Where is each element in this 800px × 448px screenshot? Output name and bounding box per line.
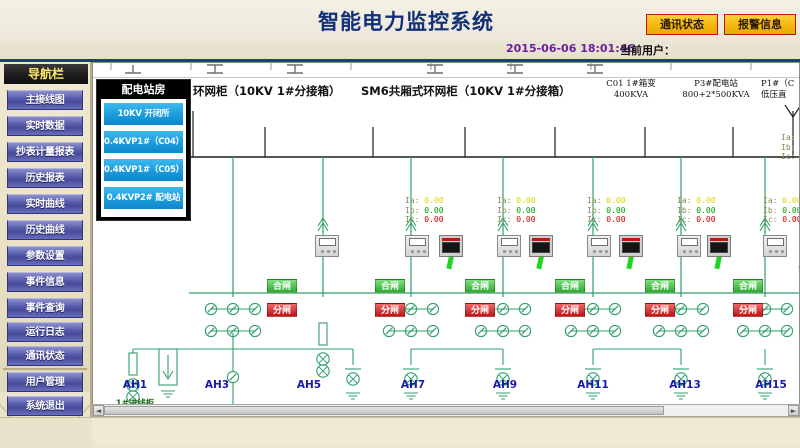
close-breaker-button-5[interactable]: 合闸 xyxy=(645,279,675,293)
meas-ic-value-4: 0.00 xyxy=(696,215,715,224)
sidebar-item-meter-report[interactable]: 抄表计量报表 xyxy=(7,142,83,162)
popup-title: 配电站房 xyxy=(97,81,190,98)
scroll-left-arrow-icon[interactable]: ◄ xyxy=(93,405,104,416)
meas-ib-value-2: 0.00 xyxy=(516,206,535,215)
sidebar-item-realtime-curve[interactable]: 实时曲线 xyxy=(7,194,83,214)
popup-button-04kv-p1-c05[interactable]: 0.4KVP1#（C05） xyxy=(104,159,183,181)
meas-ia-label-2: Ia: xyxy=(497,196,511,205)
meas-ic-label-3: Ic: xyxy=(587,215,601,224)
meas-ia-value-5: 0.00 xyxy=(782,196,800,205)
meas-ic-label-1: Ic: xyxy=(405,215,419,224)
close-breaker-button-6[interactable]: 合闸 xyxy=(733,279,763,293)
sidebar-item-realtime-data[interactable]: 实时数据 xyxy=(7,116,83,136)
sidebar-item-system-exit[interactable]: 系统退出 xyxy=(7,396,83,416)
protection-relay-icon-3[interactable] xyxy=(497,235,521,257)
measurement-group-3: Ia: 0.00 Ib: 0.00 Ic: 0.00 xyxy=(587,196,626,225)
scroll-right-arrow-icon[interactable]: ► xyxy=(788,405,799,416)
meas-ic-label-5: Ic: xyxy=(763,215,777,224)
cabinet-id-ah5: AH5 xyxy=(281,379,337,391)
cabinet-id-ah7: AH7 xyxy=(385,379,441,391)
meas-ic-label-6: Ic: xyxy=(781,152,795,161)
app-header: 智能电力监控系统 通讯状态 报警信息 2015-06-06 18:01:46 当… xyxy=(0,0,800,62)
sidebar-item-param-settings[interactable]: 参数设置 xyxy=(7,246,83,266)
meas-ib-label-1: Ib: xyxy=(405,206,419,215)
meas-ia-label-4: Ia: xyxy=(677,196,691,205)
power-meter-icon-3[interactable] xyxy=(619,235,643,257)
meas-ic-value-5: 0.00 xyxy=(782,215,800,224)
comm-status-button[interactable]: 通讯状态 xyxy=(646,14,718,35)
meas-ia-label-6: Ia: xyxy=(781,133,795,142)
meas-ib-value-4: 0.00 xyxy=(696,206,715,215)
power-meter-icon-2[interactable] xyxy=(529,235,553,257)
protection-relay-icon-5[interactable] xyxy=(677,235,701,257)
meas-ib-value-5: 0.00 xyxy=(782,206,800,215)
sidebar-item-run-log[interactable]: 运行日志 xyxy=(7,322,83,342)
meas-ib-value-1: 0.00 xyxy=(424,206,443,215)
sidebar-title: 导航栏 xyxy=(4,64,88,84)
system-timestamp: 2015-06-06 18:01:46 xyxy=(506,42,635,55)
protection-relay-icon-1[interactable] xyxy=(315,235,339,257)
meas-ib-label-2: Ib: xyxy=(497,206,511,215)
popup-button-04kv-p2-station[interactable]: 0.4KVP2# 配电站 xyxy=(104,187,183,209)
meas-ib-label-6: Ib: xyxy=(781,143,795,152)
sidebar-item-event-query[interactable]: 事件查询 xyxy=(7,298,83,318)
meas-ic-value-2: 0.00 xyxy=(516,215,535,224)
cabinet-id-ah11: AH11 xyxy=(565,379,621,391)
sidebar-item-main-diagram[interactable]: 主接线图 xyxy=(7,90,83,110)
meas-ic-value-1: 0.00 xyxy=(424,215,443,224)
sidebar-item-event-info[interactable]: 事件信息 xyxy=(7,272,83,292)
open-breaker-button-3[interactable]: 分闸 xyxy=(465,303,495,317)
popup-body: 10KV 开闭所 0.4KVP1#（C04） 0.4KVP1#（C05） 0.4… xyxy=(101,99,186,217)
meas-ic-label-2: Ic: xyxy=(497,215,511,224)
meas-ia-label-3: Ia: xyxy=(587,196,601,205)
cabinet-id-ah1: AH1 xyxy=(107,379,163,391)
close-breaker-button-1[interactable]: 合闸 xyxy=(267,279,297,293)
open-breaker-button-2[interactable]: 分闸 xyxy=(375,303,405,317)
sidebar: 导航栏 主接线图 实时数据 抄表计量报表 历史报表 实时曲线 历史曲线 参数设置… xyxy=(0,62,92,447)
power-meter-icon-1[interactable] xyxy=(439,235,463,257)
meas-ib-label-4: Ib: xyxy=(677,206,691,215)
scrollbar-thumb[interactable] xyxy=(104,406,664,415)
meas-ia-label-1: Ia: xyxy=(405,196,419,205)
sidebar-item-history-report[interactable]: 历史报表 xyxy=(7,168,83,188)
page-title: 智能电力监控系统 xyxy=(318,6,494,36)
diagram-ruler xyxy=(93,63,800,78)
single-line-diagram-panel: 配电站房 10KV 开闭所 0.4KVP1#（C04） 0.4KVP1#（C05… xyxy=(92,62,800,417)
sidebar-item-comm-status[interactable]: 通讯状态 xyxy=(7,346,83,366)
cabinet-id-ah13: AH13 xyxy=(657,379,713,391)
open-breaker-button-1[interactable]: 分闸 xyxy=(267,303,297,317)
meas-ib-value-3: 0.00 xyxy=(606,206,625,215)
substation-popup: 配电站房 10KV 开闭所 0.4KVP1#（C04） 0.4KVP1#（C05… xyxy=(96,79,191,221)
meas-ic-value-3: 0.00 xyxy=(606,215,625,224)
close-breaker-button-3[interactable]: 合闸 xyxy=(465,279,495,293)
sidebar-item-user-manage[interactable]: 用户管理 xyxy=(7,372,83,392)
close-breaker-button-4[interactable]: 合闸 xyxy=(555,279,585,293)
cabinet-id-ah9: AH9 xyxy=(477,379,533,391)
protection-relay-icon-6[interactable] xyxy=(763,235,787,257)
meas-ia-label-5: Ia: xyxy=(763,196,777,205)
protection-relay-icon-2[interactable] xyxy=(405,235,429,257)
footer-panel xyxy=(92,418,800,447)
meas-ia-value-3: 0.00 xyxy=(606,196,625,205)
open-breaker-button-5[interactable]: 分闸 xyxy=(645,303,675,317)
open-breaker-button-4[interactable]: 分闸 xyxy=(555,303,585,317)
sidebar-divider-1 xyxy=(3,368,87,370)
current-user-label: 当前用户： xyxy=(620,42,675,58)
measurement-group-4: Ia: 0.00 Ib: 0.00 Ic: 0.00 xyxy=(677,196,716,225)
popup-button-10kv-switchroom[interactable]: 10KV 开闭所 xyxy=(104,103,183,125)
open-breaker-button-6[interactable]: 分闸 xyxy=(733,303,763,317)
measurement-group-1: Ia: 0.00 Ib: 0.00 Ic: 0.00 xyxy=(405,196,444,225)
close-breaker-button-2[interactable]: 合闸 xyxy=(375,279,405,293)
meas-ib-label-3: Ib: xyxy=(587,206,601,215)
meas-ia-value-2: 0.00 xyxy=(516,196,535,205)
cabinet-id-ah3: AH3 xyxy=(189,379,245,391)
alarm-info-button[interactable]: 报警信息 xyxy=(724,14,796,35)
meas-ia-value-1: 0.00 xyxy=(424,196,443,205)
measurement-group-6: Ia: Ib: Ic: xyxy=(781,133,795,162)
measurement-group-5: Ia: 0.00 Ib: 0.00 Ic: 0.00 xyxy=(763,196,800,225)
meas-ia-value-4: 0.00 xyxy=(696,196,715,205)
power-meter-icon-4[interactable] xyxy=(707,235,731,257)
meas-ib-label-5: Ib: xyxy=(763,206,777,215)
protection-relay-icon-4[interactable] xyxy=(587,235,611,257)
measurement-group-2: Ia: 0.00 Ib: 0.00 Ic: 0.00 xyxy=(497,196,536,225)
cabinet-id-ah15: AH15 xyxy=(743,379,799,391)
ruler-ticks xyxy=(93,63,800,76)
popup-button-04kv-p1-c04[interactable]: 0.4KVP1#（C04） xyxy=(104,131,183,153)
sidebar-item-history-curve[interactable]: 历史曲线 xyxy=(7,220,83,240)
horizontal-scrollbar[interactable]: ◄ ► xyxy=(92,404,800,417)
meas-ic-label-4: Ic: xyxy=(677,215,691,224)
